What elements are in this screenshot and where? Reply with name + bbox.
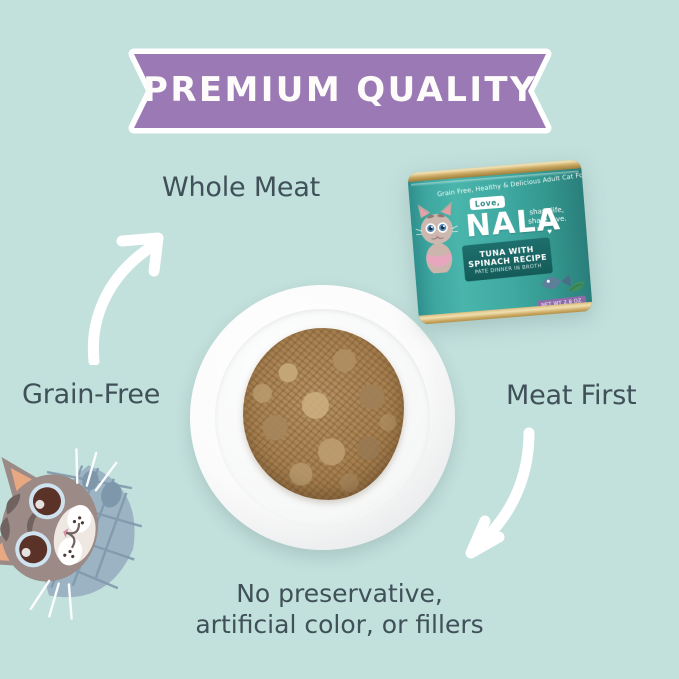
can-label: Grain Free, Healthy & Delicious Adult Ca… (407, 159, 593, 324)
feature-label-whole-meat: Whole Meat (162, 172, 320, 203)
feature-label-grain-free: Grain-Free (22, 379, 160, 410)
feature-label-meat-first: Meat First (506, 380, 636, 411)
can-cat-illustration-icon (413, 195, 461, 274)
product-can[interactable]: Grain Free, Healthy & Delicious Adult Ca… (407, 159, 593, 324)
curved-arrow-down-left-icon (455, 425, 585, 565)
plate-of-cat-food (190, 285, 455, 550)
can-rim-bottom (418, 302, 593, 325)
nala-cat-mascot-icon (0, 437, 147, 622)
heart-icon: ♥ (547, 228, 555, 236)
premium-quality-banner: Premium Quality (128, 48, 552, 134)
can-share-tagline: share life, share love. (517, 205, 576, 228)
cat-food-pate (243, 328, 404, 500)
plate-inner-well (215, 309, 430, 526)
curved-arrow-up-right-icon (80, 215, 210, 365)
trademark-symbol: ™ (536, 227, 541, 233)
banner-ribbon-shape (128, 48, 552, 134)
product-feature-graphic: Premium Quality Whole Meat Grain-Free Me… (0, 0, 679, 679)
